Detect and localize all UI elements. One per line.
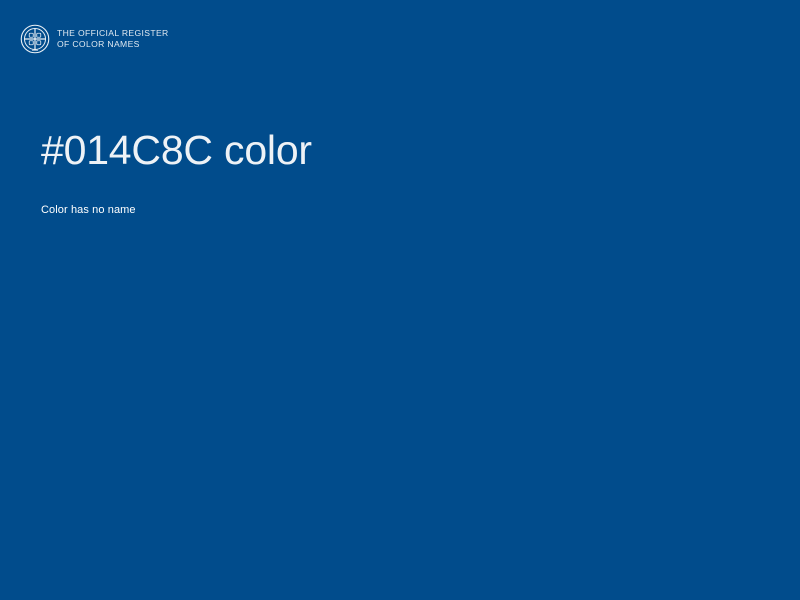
page-title: #014C8C color xyxy=(41,126,741,174)
color-name-status: Color has no name xyxy=(41,174,741,217)
color-info-block: #014C8C color Color has no name xyxy=(41,126,741,217)
register-seal-icon-svg xyxy=(20,24,50,54)
site-header[interactable]: THE OFFICIAL REGISTER OF COLOR NAMES xyxy=(20,24,169,54)
register-seal-icon[interactable] xyxy=(20,24,50,54)
brand-wordmark-line-1: THE OFFICIAL REGISTER xyxy=(57,28,169,39)
brand-wordmark-line-2: OF COLOR NAMES xyxy=(57,39,169,50)
brand-wordmark: THE OFFICIAL REGISTER OF COLOR NAMES xyxy=(57,28,169,50)
color-page-canvas: THE OFFICIAL REGISTER OF COLOR NAMES #01… xyxy=(0,0,800,600)
